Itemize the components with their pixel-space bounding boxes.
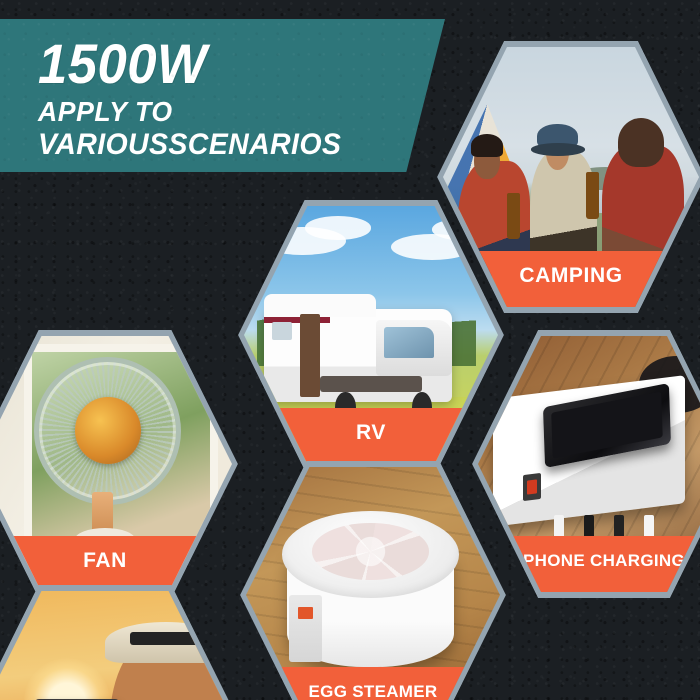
egg-cups	[312, 523, 429, 579]
sunset-glow	[24, 658, 110, 700]
tile-egg-steamer-photo: EGG STEAMER	[246, 467, 500, 700]
tile-phone-charging-label: PHONE CHARGING	[478, 536, 700, 592]
fan-neck	[92, 492, 112, 533]
tile-phone-charging-photo: PHONE CHARGING	[478, 336, 700, 592]
tile-photography[interactable]	[0, 585, 238, 700]
tile-camping[interactable]: CAMPING	[437, 41, 700, 313]
poster-canvas: 1500W APPLY TO VARIOUSSCENARIOS CAMPING	[0, 0, 700, 700]
egg-steamer-scene	[246, 467, 500, 700]
tile-egg-steamer[interactable]: EGG STEAMER	[240, 461, 506, 700]
headline-banner-text: 1500W APPLY TO VARIOUSSCENARIOS	[38, 35, 445, 161]
bottle-left	[507, 193, 520, 240]
tile-camping-photo: CAMPING	[443, 47, 699, 307]
fan-hub	[75, 397, 141, 464]
tile-phone-charging[interactable]: PHONE CHARGING	[472, 330, 700, 598]
subheadline-line1: APPLY TO	[38, 97, 425, 127]
headline-banner: 1500W APPLY TO VARIOUSSCENARIOS	[0, 19, 445, 172]
wattage-headline: 1500W	[38, 35, 421, 93]
rv-windshield	[384, 327, 435, 358]
tile-fan[interactable]: FAN	[0, 330, 238, 598]
tile-fan-photo: FAN	[0, 336, 232, 592]
tile-rv-photo: RV	[244, 206, 498, 464]
tile-rv[interactable]: RV	[238, 200, 504, 470]
power-switch	[523, 473, 541, 501]
steamer-switch-panel	[289, 595, 322, 662]
bottle-right	[586, 172, 599, 219]
rv-door	[300, 314, 320, 397]
subheadline-line2: VARIOUSSCENARIOS	[38, 128, 425, 161]
rv-overhead	[264, 294, 376, 317]
